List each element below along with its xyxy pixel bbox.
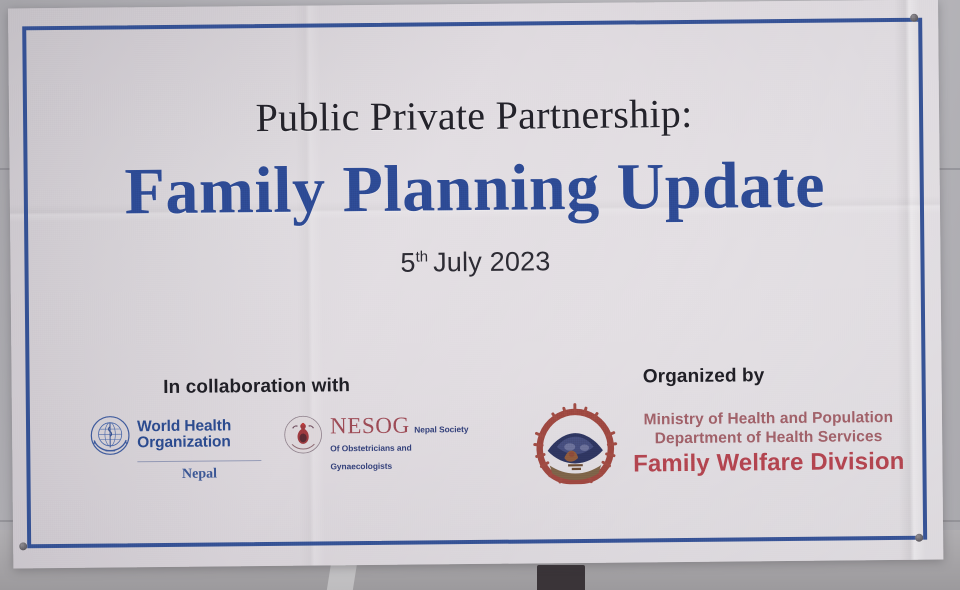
nesog-acronym: NESOG xyxy=(330,413,410,439)
who-country-label: Nepal xyxy=(137,466,261,483)
partner-logos-row: World Health Organization Nepal xyxy=(90,412,471,484)
partner-nesog: NESOG Nepal Society Of Obstetricians and… xyxy=(283,412,471,475)
date-day: 5 xyxy=(400,248,416,278)
date-month-year: July 2023 xyxy=(433,246,551,277)
organizer-ministry-line: Ministry of Health and Population xyxy=(633,409,904,431)
event-banner: Public Private Partnership: Family Plann… xyxy=(8,0,943,568)
nepal-government-emblem-icon xyxy=(529,399,622,492)
who-name: World Health Organization xyxy=(137,419,231,451)
organizer-lockup: Ministry of Health and Population Depart… xyxy=(504,396,905,492)
banner-date: 5thJuly 2023 xyxy=(10,243,940,283)
who-lockup: World Health Organization xyxy=(90,414,261,456)
nesog-lockup: NESOG Nepal Society Of Obstetricians and… xyxy=(283,413,471,475)
partner-who-nepal: World Health Organization Nepal xyxy=(90,414,262,484)
banner-eyebrow-text: Public Private Partnership: xyxy=(9,88,939,144)
organizer-block: Organized by xyxy=(503,364,904,492)
dark-object-below-banner xyxy=(537,565,585,590)
collaboration-block: In collaboration with xyxy=(90,374,471,484)
banner-credits-row: In collaboration with xyxy=(42,370,915,528)
who-name-line2: Organization xyxy=(137,433,231,451)
banner-content: Public Private Partnership: Family Plann… xyxy=(8,0,943,568)
photo-canvas: Public Private Partnership: Family Plann… xyxy=(0,0,960,590)
date-ordinal-suffix: th xyxy=(416,248,429,265)
organizer-text-lines: Ministry of Health and Population Depart… xyxy=(633,409,905,478)
nesog-emblem-icon xyxy=(283,414,323,454)
organizer-heading: Organized by xyxy=(503,364,903,390)
banner-title: Family Planning Update xyxy=(9,147,940,232)
who-divider-rule xyxy=(137,460,261,462)
nesog-textblock: NESOG Nepal Society Of Obstetricians and… xyxy=(330,413,471,474)
organizer-department-line: Department of Health Services xyxy=(633,428,904,450)
who-emblem-icon xyxy=(90,415,130,455)
organizer-division-line: Family Welfare Division xyxy=(633,449,905,478)
collaboration-heading: In collaboration with xyxy=(44,374,470,400)
